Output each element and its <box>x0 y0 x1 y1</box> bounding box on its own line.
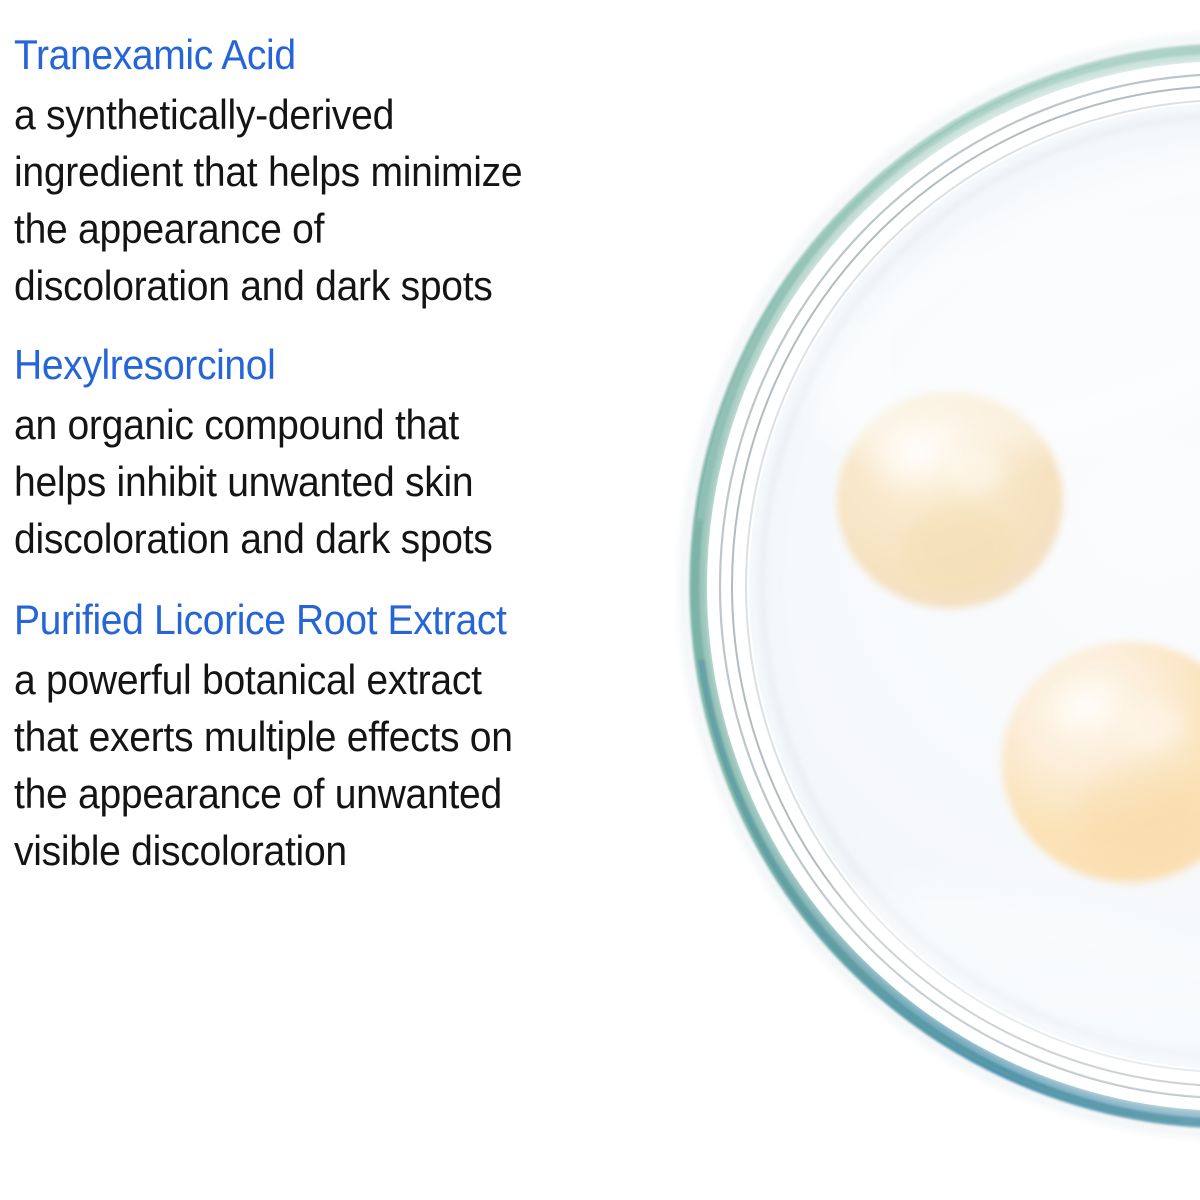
ingredient-description-2-line-3: visible discoloration <box>14 822 704 879</box>
dish-top-sheen <box>769 74 1200 525</box>
dish-rim-white-band <box>713 67 1200 1105</box>
dish-rim-line-5 <box>746 100 1200 1072</box>
ingredient-description-1-line-0: an organic compound that <box>14 396 704 453</box>
ingredient-name-2: Purified Licorice Root Extract <box>14 595 656 645</box>
ingredient-description-1: an organic compound that helps inhibit u… <box>14 396 704 567</box>
droplet-upper-body <box>837 392 1063 608</box>
droplet-upper-shadow <box>844 412 1068 620</box>
ingredient-block-tranexamic-acid: Tranexamic Acid a synthetically-derived … <box>14 30 704 314</box>
dish-rim-glass-inner-tint <box>704 58 1200 1114</box>
dish-rim-bottom-accent <box>700 660 1180 1124</box>
ingredient-list: Tranexamic Acid a synthetically-derived … <box>14 30 704 879</box>
droplet-upper-core-tone <box>902 506 1014 590</box>
ingredient-description-0-line-0: a synthetically-derived <box>14 86 704 143</box>
dish-sheen-group <box>767 74 1200 1160</box>
dish-rim-bottom-blue-accent <box>960 1090 1200 1129</box>
droplet-lower-shadow <box>1008 662 1200 894</box>
ingredient-description-0: a synthetically-derived ingredient that … <box>14 86 704 314</box>
dish-rim-line-2 <box>726 80 1200 1092</box>
dish-body <box>697 51 1200 1121</box>
ingredient-description-1-line-1: helps inhibit unwanted skin <box>14 453 704 510</box>
droplet-upper-secondary-highlight <box>945 450 1005 494</box>
ingredient-name-0: Tranexamic Acid <box>14 30 656 80</box>
ingredient-description-2-line-1: that exerts multiple effects on <box>14 708 704 765</box>
dish-rim-top-accent <box>700 60 1100 520</box>
dish-rim-line-3 <box>732 86 1200 1086</box>
dish-inner-base-ring <box>777 131 1200 1041</box>
dish-inner-shelf-ring <box>762 116 1200 1056</box>
dish-outer-halo <box>684 38 1200 1134</box>
ingredient-block-purified-licorice-root-extract: Purified Licorice Root Extract a powerfu… <box>14 595 704 879</box>
ingredient-name-1: Hexylresorcinol <box>14 340 656 390</box>
ingredient-description-0-line-2: the appearance of <box>14 200 704 257</box>
ingredient-description-2: a powerful botanical extract that exerts… <box>14 651 704 879</box>
ingredient-description-0-line-3: discoloration and dark spots <box>14 257 704 314</box>
droplet-lower-core-tone <box>1074 770 1200 866</box>
dish-rim-line-1 <box>720 74 1200 1098</box>
droplet-lower-body <box>1002 642 1200 882</box>
ingredient-description-2-line-0: a powerful botanical extract <box>14 651 704 708</box>
dish-rim-line-4 <box>739 93 1200 1079</box>
dish-bottom-sheen <box>767 840 1200 1160</box>
dish-rim-glass-edge <box>697 51 1200 1121</box>
droplet-lower <box>1002 642 1200 894</box>
droplet-lower-highlight <box>1022 651 1149 760</box>
ingredient-description-0-line-1: ingredient that helps minimize <box>14 143 704 200</box>
droplet-group <box>837 392 1200 894</box>
ingredient-benefits-panel: Tranexamic Acid a synthetically-derived … <box>0 0 1200 1200</box>
dish-interior <box>749 103 1200 1069</box>
droplet-upper-highlight <box>853 398 979 511</box>
ingredient-description-2-line-2: the appearance of unwanted <box>14 765 704 822</box>
dish-rim-bottom-accent-group <box>700 60 1200 1129</box>
ingredient-description-1-line-2: discoloration and dark spots <box>14 510 704 567</box>
ingredient-block-hexylresorcinol: Hexylresorcinol an organic compound that… <box>14 340 704 567</box>
droplet-lower-secondary-highlight <box>1118 702 1186 750</box>
droplet-upper <box>837 392 1068 620</box>
